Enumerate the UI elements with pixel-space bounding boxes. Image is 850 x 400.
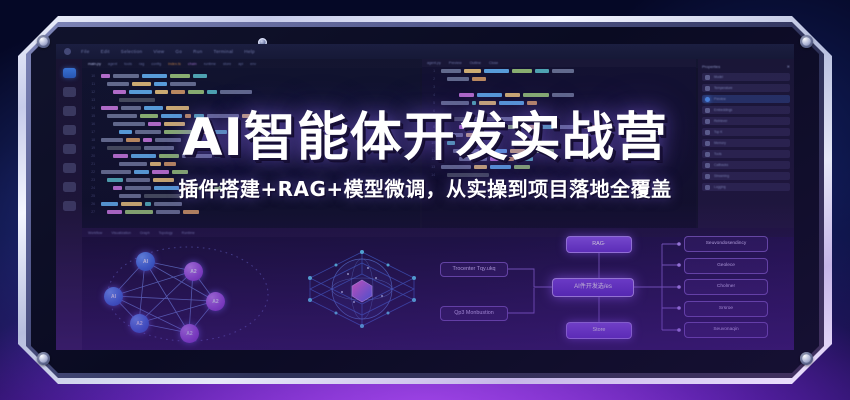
agent-network-graph: AIA2AIA2A2A2 xyxy=(100,242,276,346)
graph-node-0[interactable]: AI xyxy=(136,252,155,271)
canvas-tab-2[interactable]: Graph xyxy=(140,231,150,235)
code-token-txt xyxy=(552,93,574,96)
editor-tab-8[interactable]: store xyxy=(223,62,231,66)
rag-node[interactable]: RAG· xyxy=(566,236,632,253)
code-token-key xyxy=(459,93,474,96)
core-svg xyxy=(296,234,428,346)
code-token-fn xyxy=(142,74,167,77)
line-number: 1 xyxy=(426,69,435,73)
frame-rivet-top-left xyxy=(37,35,50,48)
right-editor-line-3: 3 xyxy=(422,83,696,91)
code-token-cmt xyxy=(119,98,155,101)
code-token-fn xyxy=(477,93,502,96)
right-editor-line-4: 4 xyxy=(422,91,696,99)
code-token-var xyxy=(505,93,520,96)
menubar-items: FileEditSelectionViewGoRunTerminalHelp xyxy=(81,49,255,54)
left-editor-line-12: 12 xyxy=(82,88,420,96)
editor-tab-3[interactable]: rag xyxy=(139,62,144,66)
menubar-item-3[interactable]: View xyxy=(153,49,164,54)
code-token-txt xyxy=(113,74,139,77)
code-token-txt xyxy=(220,90,252,93)
settings-icon[interactable] xyxy=(63,201,76,211)
right-editor-line-1: 1 xyxy=(422,67,696,75)
code-token-txt xyxy=(552,69,574,72)
line-number: 2 xyxy=(426,77,435,81)
property-row-0[interactable]: Model xyxy=(702,73,790,81)
headline-block: AI智能体开发实战营 插件搭建+RAG+模型微调，从实操到项目落地全覆盖 xyxy=(0,112,850,202)
line-number: 10 xyxy=(86,74,95,78)
editor-tab-6[interactable]: chain xyxy=(188,62,197,66)
code-token-op xyxy=(193,74,207,77)
code-token-key xyxy=(107,210,122,213)
line-number: 14 xyxy=(86,106,95,110)
editor-tab-4[interactable]: config xyxy=(151,62,161,66)
frame-rivet-bottom-left xyxy=(37,352,50,365)
editor-right-header-item-2[interactable]: Outline xyxy=(470,61,481,65)
line-number: 27 xyxy=(86,210,95,214)
code-token-txt xyxy=(107,82,129,85)
menubar-item-7[interactable]: Help xyxy=(244,49,255,54)
editor-right-header: agent.pyPreviewOutlineClose xyxy=(422,59,696,67)
frame-rivet-bottom-right xyxy=(800,352,813,365)
code-token-txt xyxy=(156,210,180,213)
right-item-2[interactable]: Geolece xyxy=(684,258,768,274)
left-editor-line-11: 11 xyxy=(82,80,420,88)
editor-tab-0[interactable]: main.py xyxy=(88,62,101,66)
code-token-var xyxy=(132,82,151,85)
canvas-tab-1[interactable]: Visualization xyxy=(111,231,131,235)
code-token-var xyxy=(155,90,168,93)
right-item-3[interactable]: Cholmer xyxy=(684,279,768,295)
code-token-txt xyxy=(441,101,469,104)
menubar-item-0[interactable]: File xyxy=(81,49,90,54)
close-icon[interactable]: ✕ xyxy=(787,64,790,69)
code-token-txt xyxy=(447,77,469,80)
editor-tab-7[interactable]: runtime xyxy=(204,62,216,66)
menubar-item-5[interactable]: Run xyxy=(193,49,202,54)
code-token-op xyxy=(207,90,217,93)
property-row-2[interactable]: Preview xyxy=(702,95,790,103)
editor-right-header-item-1[interactable]: Preview xyxy=(449,61,462,65)
visualization-canvas: WorkflowVisualizationGraphTopologyRuntim… xyxy=(82,228,794,350)
line-number: 26 xyxy=(86,202,95,206)
right-editor-line-5: 5 xyxy=(422,99,696,107)
code-token-var xyxy=(479,101,496,104)
code-token-fn xyxy=(144,106,163,109)
code-token-txt xyxy=(441,69,461,72)
app-logo-icon xyxy=(64,48,71,55)
editor-tab-2[interactable]: tools xyxy=(124,62,132,66)
topology-node[interactable]: Trocenter Tqy.ukq xyxy=(440,262,508,277)
code-token-num xyxy=(527,101,537,104)
canvas-tab-4[interactable]: Runtime xyxy=(182,231,195,235)
production-node[interactable]: Qp3 Monbustion xyxy=(440,306,508,321)
menubar-item-2[interactable]: Selection xyxy=(121,49,143,54)
right-item-4[interactable]: Srsroe xyxy=(684,301,768,317)
left-editor-line-27: 27 xyxy=(82,208,420,216)
architecture-flowchart: RAG·AI件开发选/esStoreTrocenter Tqy.ukqQp3 M… xyxy=(434,234,786,346)
properties-panel-title: Properties xyxy=(702,64,720,69)
graph-node-4[interactable]: A2 xyxy=(130,314,149,333)
code-token-txt xyxy=(170,82,196,85)
line-number: 12 xyxy=(86,90,95,94)
line-number: 13 xyxy=(86,98,95,102)
graph-node-2[interactable]: AI xyxy=(104,287,123,306)
graph-node-1[interactable]: A2 xyxy=(184,262,203,281)
code-token-fn xyxy=(101,202,118,205)
property-label: Preview xyxy=(714,97,726,101)
code-token-fn xyxy=(499,101,524,104)
code-token-fn xyxy=(484,69,509,72)
slider-icon xyxy=(705,86,710,91)
property-row-1[interactable]: Temperature xyxy=(702,84,790,92)
chip-icon xyxy=(705,75,710,80)
code-token-num xyxy=(183,210,199,213)
code-token-var xyxy=(464,69,481,72)
editor-tab-10[interactable]: env xyxy=(250,62,256,66)
menubar-item-1[interactable]: Edit xyxy=(101,49,110,54)
code-token-txt xyxy=(154,202,182,205)
frame-rivet-top-right xyxy=(800,35,813,48)
menubar-item-4[interactable]: Go xyxy=(175,49,182,54)
graph-node-5[interactable]: A2 xyxy=(180,324,199,343)
canvas-tab-0[interactable]: Workflow xyxy=(88,231,102,235)
isometric-core-visual xyxy=(296,234,428,346)
left-editor-line-13: 13 xyxy=(82,96,420,104)
editor-tab-9[interactable]: api xyxy=(238,62,243,66)
code-token-str xyxy=(125,210,153,213)
code-token-key xyxy=(113,90,126,93)
poster-stage: FileEditSelectionViewGoRunTerminalHelp m… xyxy=(0,0,850,400)
line-number: 5 xyxy=(426,101,435,105)
code-token-fn xyxy=(129,90,152,93)
search-icon[interactable] xyxy=(63,87,76,97)
code-token-key xyxy=(101,106,118,109)
code-token-op xyxy=(472,101,476,104)
line-number: 11 xyxy=(86,82,95,86)
store-node[interactable]: Store xyxy=(566,322,632,339)
code-token-txt xyxy=(121,106,141,109)
code-token-num xyxy=(472,77,486,80)
right-item-5[interactable]: Seuvonaqin xyxy=(684,322,768,338)
editor-right-header-item-0[interactable]: agent.py xyxy=(427,61,441,65)
code-token-str xyxy=(170,74,190,77)
line-number: 3 xyxy=(426,85,435,89)
eye-icon xyxy=(705,97,710,102)
activity-sidebar[interactable] xyxy=(56,59,82,350)
editor-tab-5[interactable]: index.ts xyxy=(168,62,181,66)
property-label: Temperature xyxy=(714,86,733,90)
code-token-str xyxy=(512,69,532,72)
property-label: Model xyxy=(714,75,723,79)
code-token-num xyxy=(171,90,185,93)
graph-node-3[interactable]: A2 xyxy=(206,292,225,311)
right-item-1[interactable]: Seuvondosendincy xyxy=(684,236,768,252)
canvas-tab-3[interactable]: Topology xyxy=(159,231,173,235)
editor-right-header-item-3[interactable]: Close xyxy=(489,61,498,65)
code-token-str xyxy=(523,93,549,96)
page-subtitle: 插件搭建+RAG+模型微调，从实操到项目落地全覆盖 xyxy=(0,173,850,202)
code-token-str xyxy=(188,90,204,93)
page-title: AI智能体开发实战营 xyxy=(0,112,850,164)
code-token-key xyxy=(101,74,110,77)
code-token-op xyxy=(145,202,151,205)
line-number: 4 xyxy=(426,93,435,97)
code-token-fn xyxy=(154,82,167,85)
code-token-var xyxy=(121,202,142,205)
right-editor-line-2: 2 xyxy=(422,75,696,83)
code-token-op xyxy=(535,69,549,72)
editor-tab-1[interactable]: agent xyxy=(108,62,117,66)
center-node[interactable]: AI件开发选/es xyxy=(552,278,634,297)
left-editor-line-10: 10 xyxy=(82,72,420,80)
menubar-item-6[interactable]: Terminal xyxy=(213,49,233,54)
explorer-icon[interactable] xyxy=(63,68,76,78)
ide-menubar[interactable]: FileEditSelectionViewGoRunTerminalHelp xyxy=(56,44,794,59)
